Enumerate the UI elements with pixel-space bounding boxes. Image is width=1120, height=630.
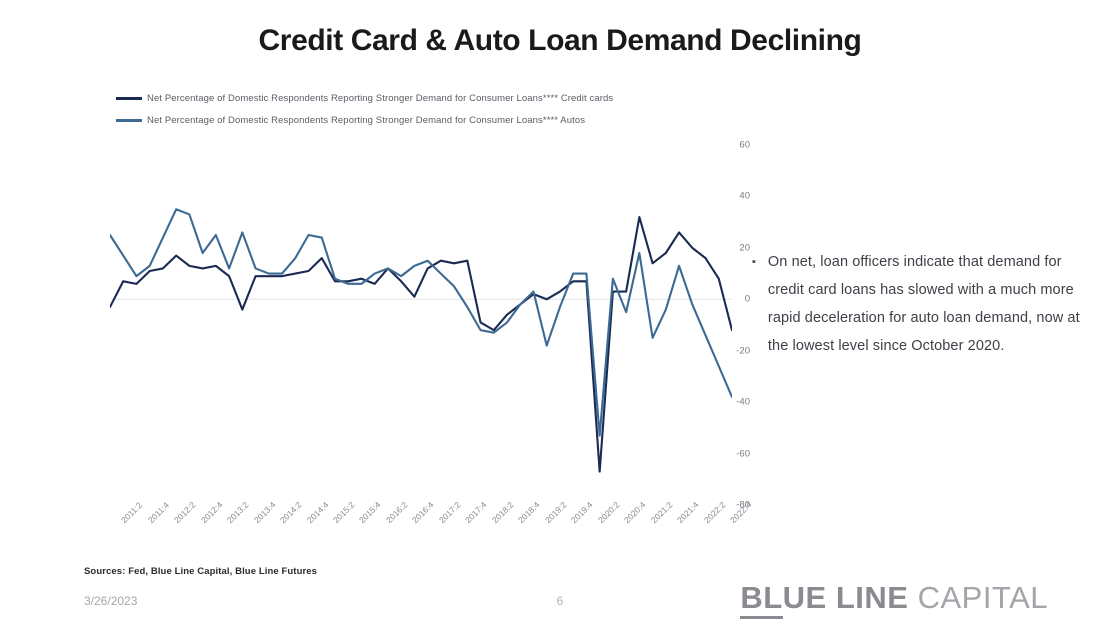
legend-swatch-credit-cards [116,97,142,100]
sources-line: Sources: Fed, Blue Line Capital, Blue Li… [84,566,317,577]
slide-canvas: Credit Card & Auto Loan Demand Declining… [0,0,1120,630]
logo-primary-text: BLUE LINE [740,580,908,619]
legend-label-autos: Net Percentage of Domestic Respondents R… [147,115,585,126]
logo-space [908,580,917,615]
legend-item-autos: Net Percentage of Domestic Respondents R… [116,112,613,128]
page-title: Credit Card & Auto Loan Demand Declining [0,24,1120,58]
note-text: On net, loan officers indicate that dema… [768,248,1082,360]
bullet-icon: ▪ [752,248,756,276]
legend-item-credit-cards: Net Percentage of Domestic Respondents R… [116,90,613,106]
commentary-block: ▪ On net, loan officers indicate that de… [752,248,1082,360]
line-chart: 6040200-20-40-60-80 [70,135,750,520]
logo-primary-rest: UE LINE [783,580,909,615]
logo-secondary-text: CAPITAL [918,580,1048,615]
x-axis-ticks: 2011:22011:42012:22012:42013:22013:42014… [110,512,750,572]
note-item: ▪ On net, loan officers indicate that de… [752,248,1082,360]
plot-area [110,145,732,505]
legend-label-credit-cards: Net Percentage of Domestic Respondents R… [147,93,613,104]
logo-underline-letters: BL [740,580,782,619]
legend-swatch-autos [116,119,142,122]
chart-legend: Net Percentage of Domestic Respondents R… [116,90,613,134]
series-lines [110,145,732,505]
brand-logo: BLUE LINE CAPITAL [740,580,1048,616]
series-line-autos [110,209,732,435]
